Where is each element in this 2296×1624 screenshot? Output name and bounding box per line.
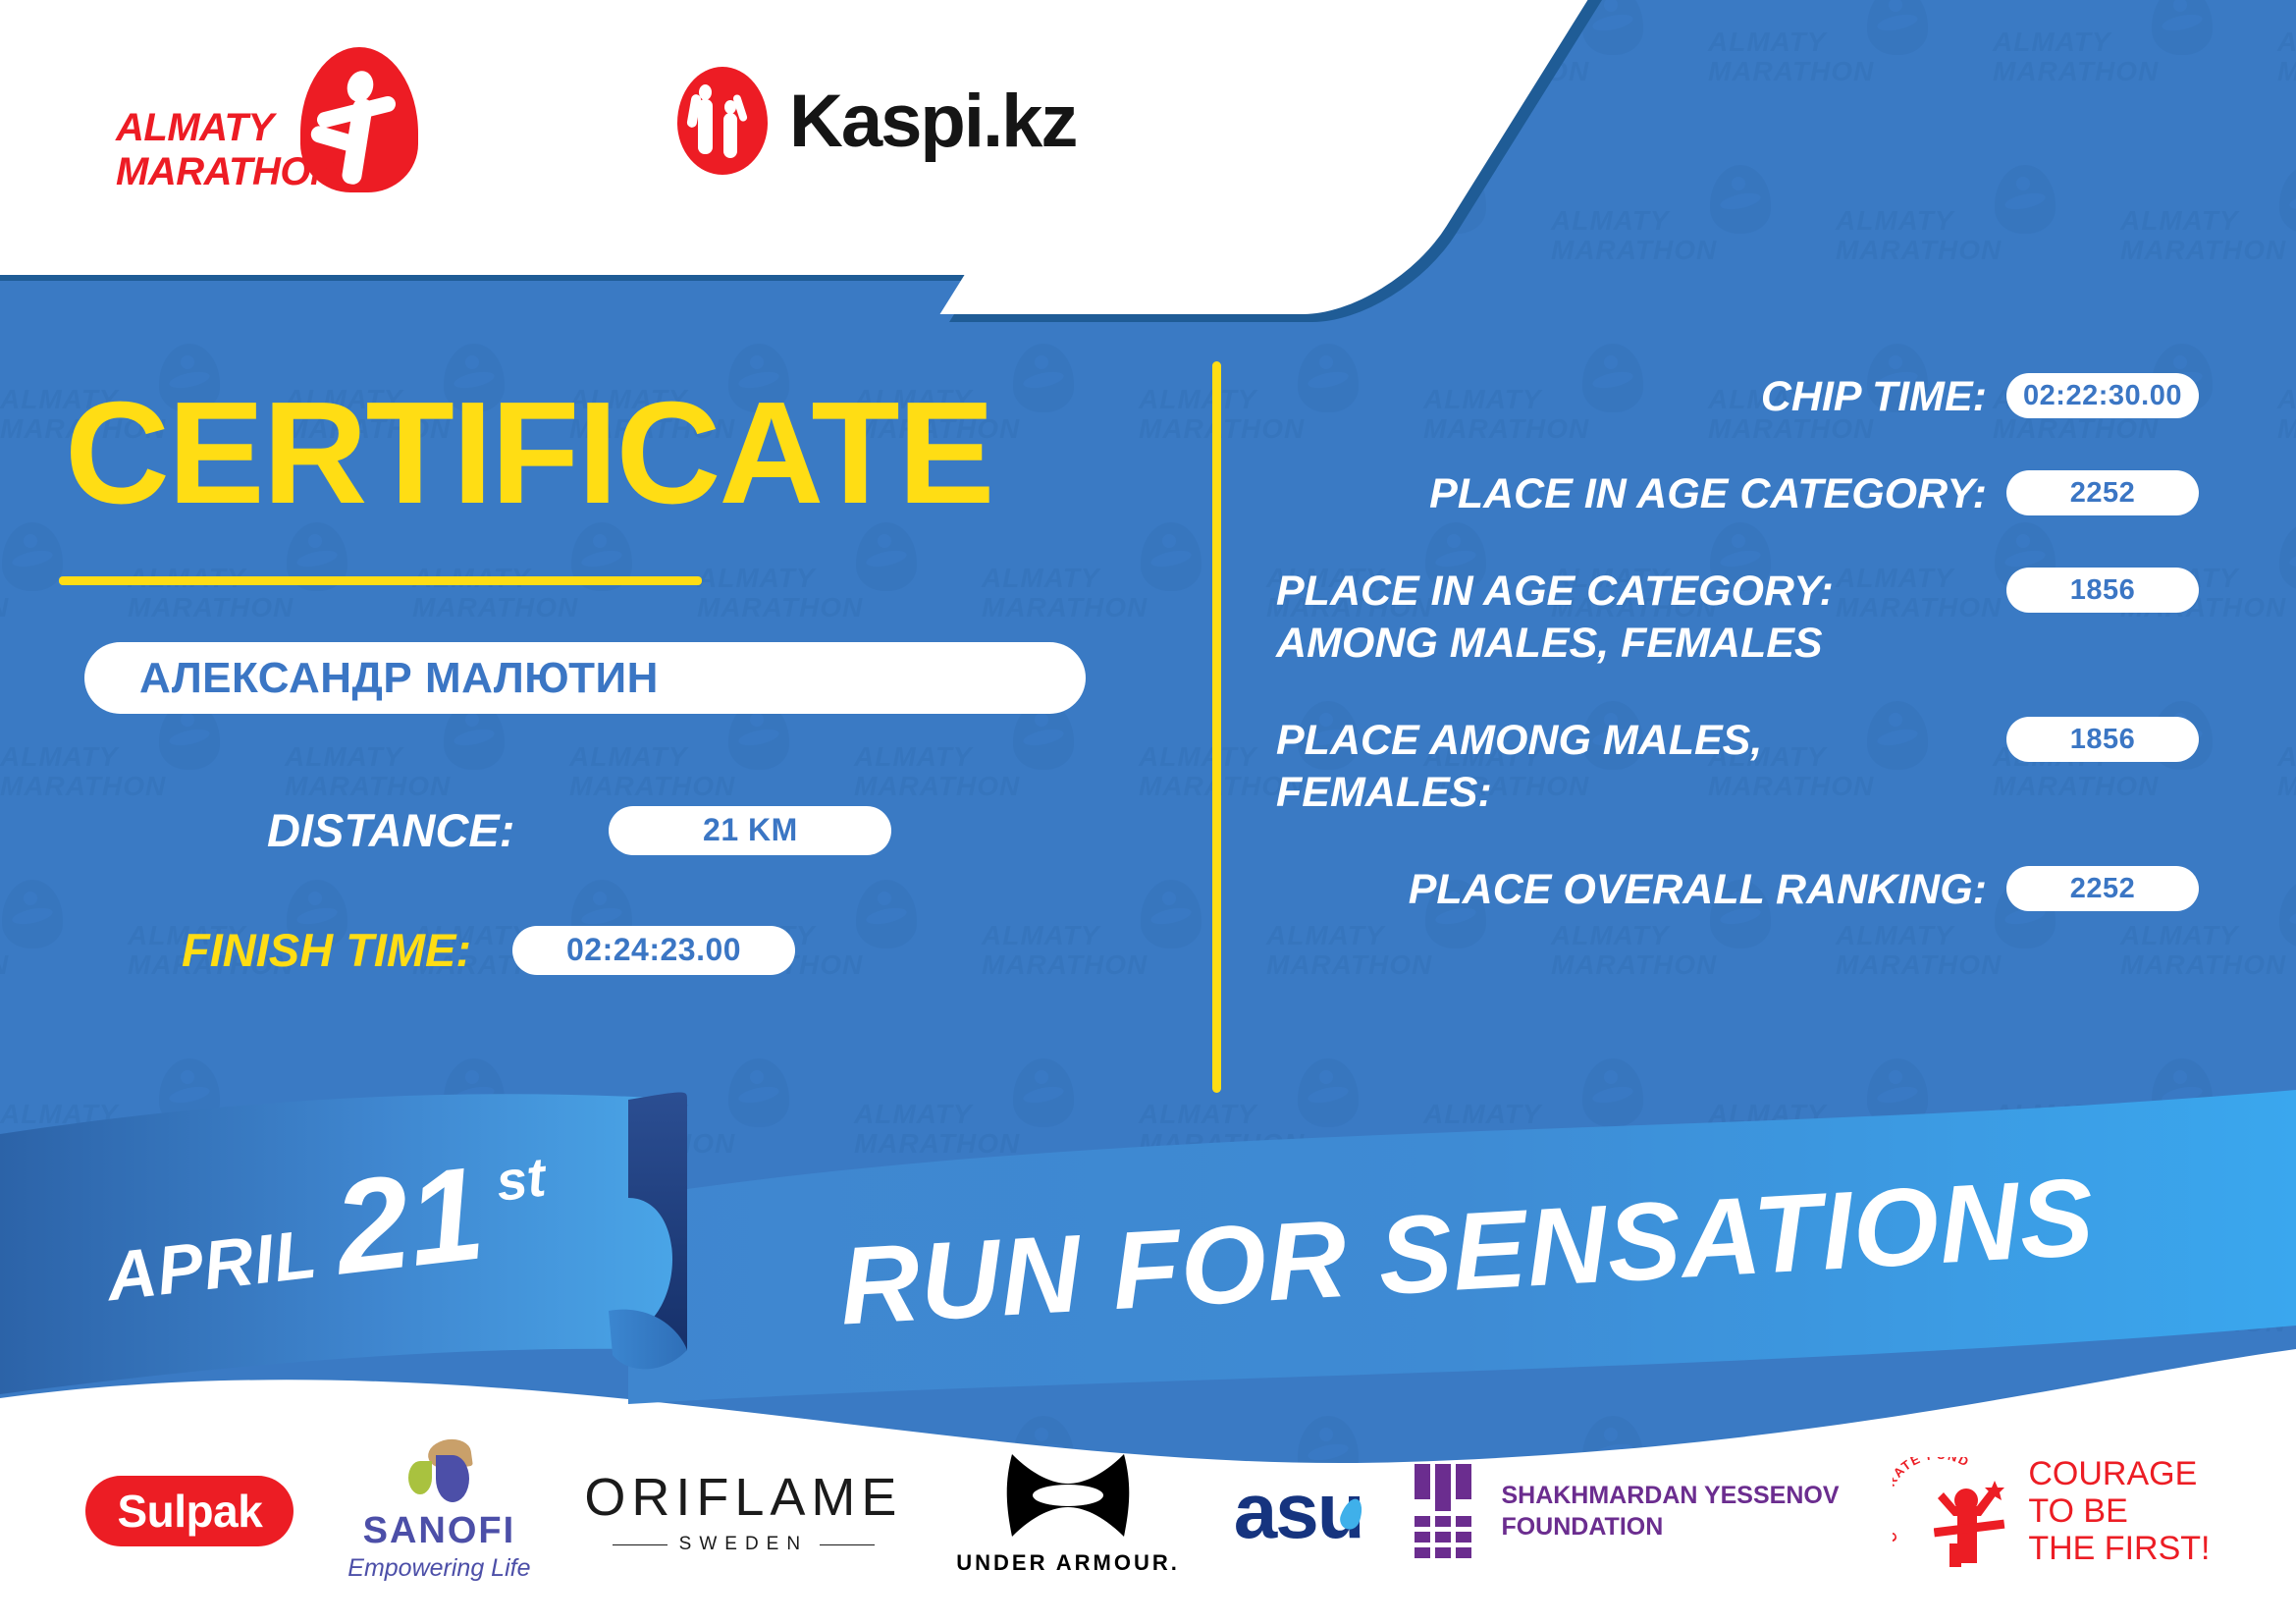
stat-label: PLACE AMONG MALES, FEMALES:	[1276, 715, 2006, 819]
almaty-marathon-logo: ALMATY MARATHON	[116, 47, 450, 204]
stat-row: PLACE AMONG MALES, FEMALES:1856	[1276, 715, 2199, 819]
certificate-canvas: ALMATY MARATHONALMATY MARATHONALMATY MAR…	[0, 0, 2296, 1624]
sanofi-wordmark: SANOFI	[363, 1510, 516, 1552]
sulpak-wordmark: Sulpak	[85, 1476, 294, 1546]
distance-label: DISTANCE:	[267, 803, 514, 857]
finish-time-value: 02:24:23.00	[512, 926, 795, 975]
results-stats-list: CHIP TIME:02:22:30.00PLACE IN AGE CATEGO…	[1276, 371, 2199, 961]
stat-value: 1856	[2006, 717, 2199, 762]
watermark-tile: ALMATY MARATHON	[412, 536, 638, 652]
stat-label: PLACE IN AGE CATEGORY:	[1276, 468, 2006, 520]
stat-row: PLACE IN AGE CATEGORY: AMONG MALES, FEMA…	[1276, 566, 2199, 670]
kaspi-logo: Kaspi.kz	[677, 67, 1076, 175]
watermark-tile: ALMATY MARATHON	[0, 893, 69, 1009]
stat-row: PLACE OVERALL RANKING:2252	[1276, 864, 2199, 916]
almaty-marathon-wordmark: ALMATY MARATHON	[116, 106, 338, 194]
athlete-name-value: АЛЕКСАНДР МАЛЮТИН	[139, 654, 659, 703]
stat-value: 2252	[2006, 470, 2199, 515]
courage-fund-tagline: COURAGE TO BE THE FIRST!	[2028, 1455, 2210, 1567]
event-day-ordinal: st	[493, 1145, 549, 1214]
event-day: 21	[328, 1146, 489, 1294]
sponsor-yessenov-foundation: SHAKHMARDAN YESSENOV FOUNDATION	[1415, 1464, 1839, 1558]
under-armour-icon	[994, 1446, 1142, 1544]
sponsor-bar: Sulpak SANOFI Empowering Life ORIFLAME S…	[0, 1398, 2296, 1624]
watermark-tile: ALMATY MARATHON	[1551, 179, 1777, 295]
distance-row: DISTANCE: 21 KM	[267, 803, 891, 857]
almaty-line1: ALMATY	[116, 106, 274, 149]
finish-time-row: FINISH TIME: 02:24:23.00	[182, 923, 795, 977]
stat-label: PLACE OVERALL RANKING:	[1276, 864, 2006, 916]
yessenov-glyph-icon	[1415, 1464, 1475, 1558]
watermark-tile: ALMATY MARATHON	[128, 536, 353, 652]
watermark-tile: ALMATY MARATHON	[982, 893, 1207, 1009]
watermark-tile: ALMATY MARATHON	[1836, 179, 2061, 295]
sponsor-sulpak: Sulpak	[85, 1476, 294, 1546]
event-month: APRIL	[102, 1215, 321, 1317]
almaty-line2: MARATHON	[116, 150, 338, 193]
vertical-divider	[1212, 361, 1221, 1093]
stat-label: CHIP TIME:	[1276, 371, 2006, 423]
under-armour-wordmark: UNDER ARMOUR.	[956, 1550, 1180, 1576]
stat-value: 02:22:30.00	[2006, 373, 2199, 418]
sanofi-tagline: Empowering Life	[347, 1554, 530, 1583]
page-title: CERTIFICATE	[65, 381, 992, 526]
sanofi-mark-icon	[402, 1439, 475, 1504]
sponsor-sanofi: SANOFI Empowering Life	[347, 1439, 530, 1583]
watermark-tile: ALMATY MARATHON	[697, 536, 923, 652]
oriflame-wordmark: ORIFLAME	[584, 1467, 902, 1528]
title-underline-rule	[59, 576, 702, 585]
watermark-tile: ALMATY MARATHON	[1993, 0, 2218, 116]
watermark-tile: ALMATY MARATHON	[2277, 357, 2296, 473]
stat-value: 1856	[2006, 568, 2199, 613]
sponsor-oriflame: ORIFLAME SWEDEN	[584, 1467, 902, 1555]
distance-value: 21 KM	[609, 806, 891, 855]
oriflame-tagline: SWEDEN	[613, 1534, 875, 1555]
athlete-name-field: АЛЕКСАНДР МАЛЮТИН	[84, 642, 1086, 714]
sponsor-under-armour: UNDER ARMOUR.	[956, 1446, 1180, 1576]
watermark-tile: ALMATY MARATHON	[2277, 715, 2296, 831]
stat-row: PLACE IN AGE CATEGORY:2252	[1276, 468, 2199, 520]
sponsor-asu: asu	[1234, 1476, 1362, 1546]
stat-label: PLACE IN AGE CATEGORY: AMONG MALES, FEMA…	[1276, 566, 2006, 670]
kaspi-people-icon	[677, 67, 768, 175]
watermark-tile: ALMATY MARATHON	[982, 536, 1207, 652]
watermark-tile: ALMATY MARATHON	[0, 536, 69, 652]
courage-fund-icon: CORPORATE FUND	[1893, 1453, 2010, 1569]
watermark-tile: ALMATY MARATHON	[1708, 0, 1934, 116]
kaspi-wordmark: Kaspi.kz	[789, 79, 1076, 164]
watermark-tile: ALMATY MARATHON	[0, 715, 226, 831]
sponsor-courage-fund: CORPORATE FUND COURAGE TO BE THE FIRST!	[1893, 1453, 2210, 1569]
finish-time-label: FINISH TIME:	[182, 923, 471, 977]
courage-fund-figure-icon	[1934, 1475, 2008, 1569]
watermark-tile: ALMATY MARATHON	[2277, 0, 2296, 116]
yessenov-wordmark: SHAKHMARDAN YESSENOV FOUNDATION	[1501, 1480, 1839, 1543]
stat-row: CHIP TIME:02:22:30.00	[1276, 371, 2199, 423]
stat-value: 2252	[2006, 866, 2199, 911]
watermark-tile: ALMATY MARATHON	[2120, 179, 2296, 295]
